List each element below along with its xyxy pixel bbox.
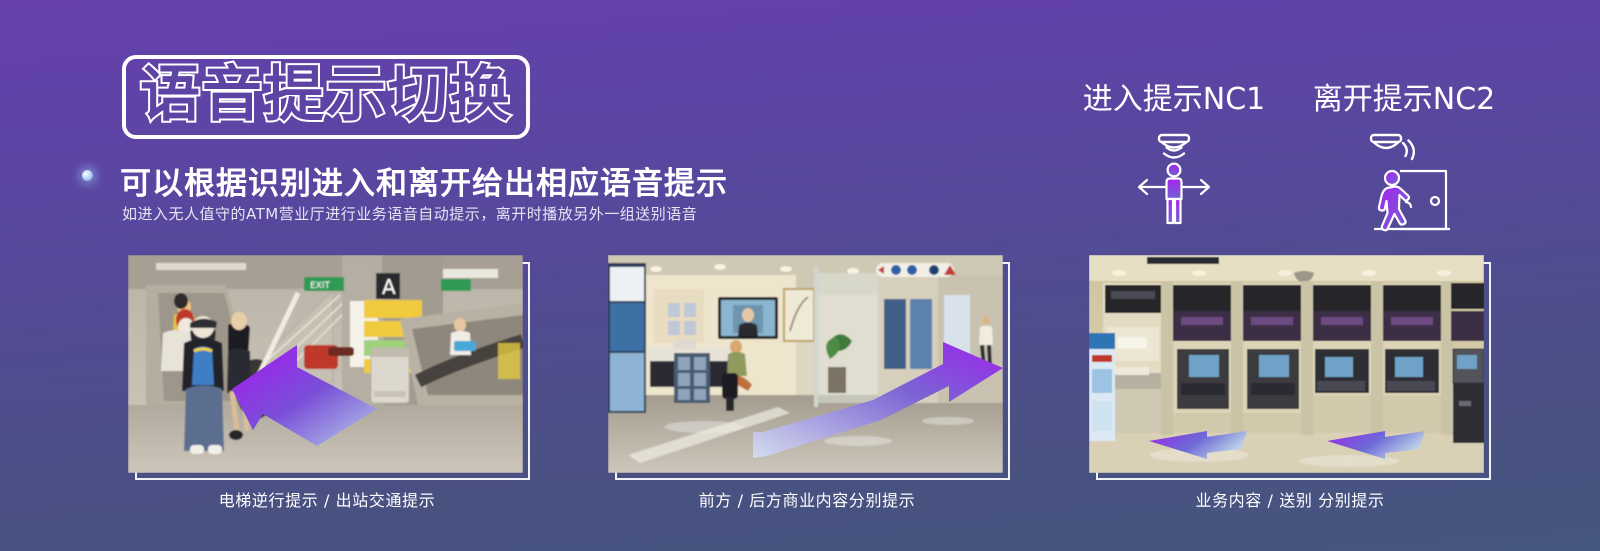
diagram-labels: 进入提示NC1 离开提示NC2 bbox=[1082, 74, 1496, 118]
photo-atm-lobby bbox=[1089, 255, 1484, 473]
diagram-icons bbox=[1082, 125, 1496, 245]
diagram-icon-leave bbox=[1312, 125, 1496, 245]
photo-shopping-mall-corridor bbox=[608, 255, 1003, 473]
photo-caption-atm: 业务内容 / 送别 分别提示 bbox=[1080, 487, 1500, 511]
bullet-dot-icon bbox=[82, 170, 93, 181]
photo-caption-escalator: 电梯逆行提示 / 出站交通提示 bbox=[117, 487, 537, 511]
headline: 可以根据识别进入和离开给出相应语音提示 bbox=[120, 158, 728, 203]
svg-text:EXIT: EXIT bbox=[310, 281, 331, 291]
page-title: 语音提示切换 bbox=[140, 65, 512, 125]
diagram-icon-enter bbox=[1082, 125, 1266, 245]
photo-subway-station-escalator: A EXIT bbox=[128, 255, 523, 473]
slide-title-box: 语音提示切换 bbox=[122, 55, 530, 139]
photo-card-atm bbox=[1089, 255, 1484, 473]
subheadline: 如进入无人值守的ATM营业厅进行业务语音自动提示，离开时播放另外一组送别语音 bbox=[122, 203, 697, 224]
photo-card-mall bbox=[608, 255, 1003, 473]
photo-caption-mall: 前方 / 后方商业内容分别提示 bbox=[597, 487, 1017, 511]
speaker-person-bidirectional-arrows-icon bbox=[1082, 125, 1266, 245]
svg-text:A: A bbox=[382, 275, 396, 299]
diagram-label-enter: 进入提示NC1 bbox=[1082, 74, 1266, 118]
speaker-person-walking-through-door-icon bbox=[1312, 125, 1496, 245]
diagram-label-leave: 离开提示NC2 bbox=[1312, 74, 1496, 118]
photo-card-escalator: A EXIT bbox=[128, 255, 523, 473]
